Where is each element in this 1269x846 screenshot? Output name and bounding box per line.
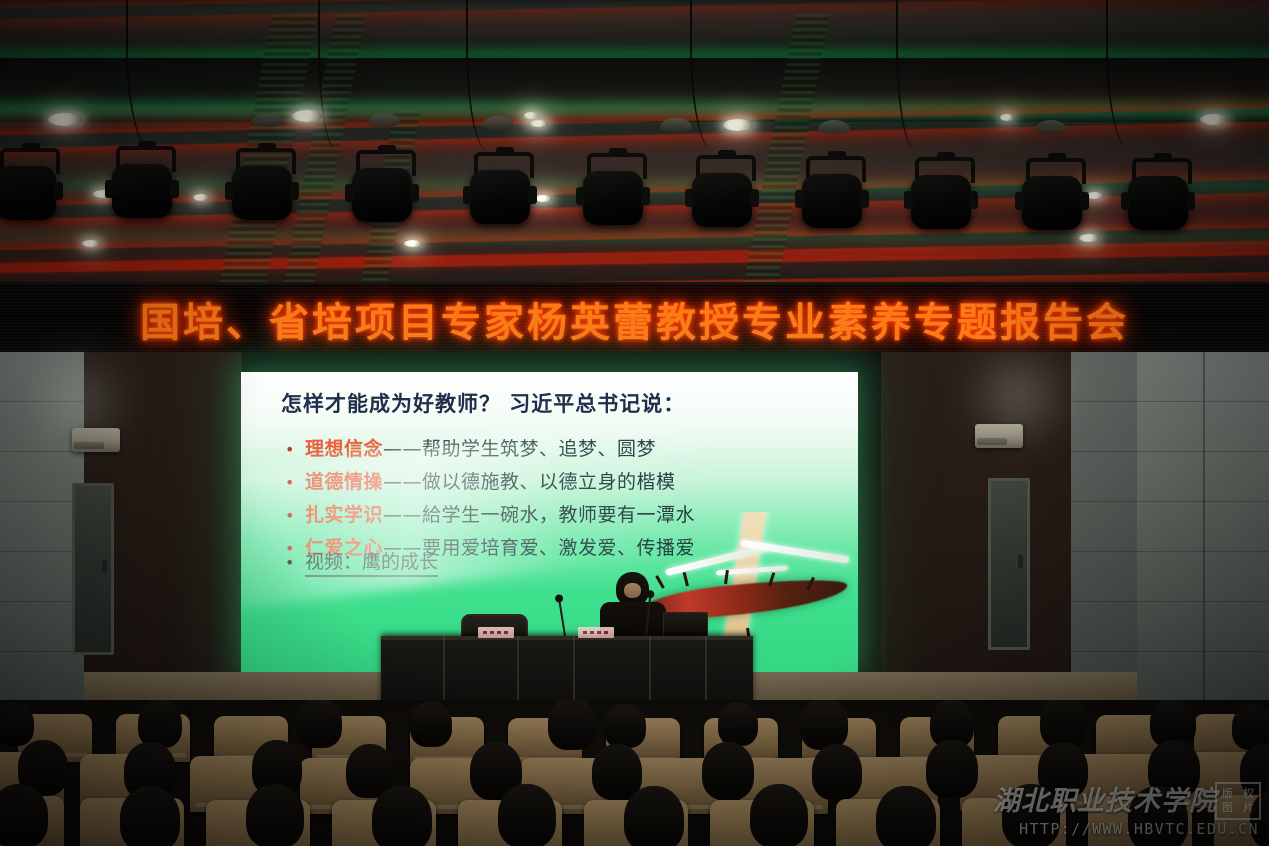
audience-head [296, 700, 342, 748]
badge-char: 权 [1238, 787, 1259, 801]
projection-screen: 怎样才能成为好教师？ 习近平总书记说： • 理想信念 —— 帮助学生筑梦、追梦、… [241, 372, 858, 672]
watermark-copyright-badge: 版 权 图 片 [1215, 782, 1261, 820]
bullet-value: 做以德施教、以德立身的楷模 [422, 467, 676, 494]
bullet-dot-icon: • [285, 442, 305, 458]
audience-head [800, 700, 848, 750]
audience-head [812, 744, 862, 800]
ceiling-dome-fixture [252, 113, 284, 127]
hanging-cable [1106, 0, 1140, 150]
art-thorn-spike [724, 570, 729, 584]
audience-head [498, 784, 556, 846]
ceiling-spot-light [723, 119, 753, 131]
name-plate-left [478, 627, 514, 638]
ceiling-spot-light [524, 112, 538, 119]
ceiling-dome-fixture [482, 116, 514, 130]
exit-door-left[interactable] [72, 483, 114, 655]
exit-door-right[interactable] [988, 478, 1030, 650]
audience-head [702, 742, 754, 800]
ceiling-spot-light [1200, 114, 1228, 125]
led-banner: 国培、省培项目专家杨英蕾教授专业素养专题报告会 [0, 282, 1269, 356]
door-handle[interactable] [1018, 555, 1023, 568]
bullet-dot-icon: • [285, 475, 305, 491]
audience-head [624, 786, 684, 846]
audience-head [410, 701, 452, 747]
bullet-key: 理想信念 [305, 434, 383, 461]
slide-bullet-item: • 道德情操 —— 做以德施教、以德立身的楷模 [285, 467, 695, 494]
hanging-cable [126, 0, 162, 150]
ceiling-spot-light [82, 240, 100, 247]
slide-video-item: • 视频：鹰的成长 [285, 547, 438, 577]
slide-video-label: 视频：鹰的成长 [305, 547, 438, 577]
wall-panel-lines [1071, 352, 1137, 724]
ceiling-region [0, 0, 1269, 282]
bullet-dash: —— [383, 471, 422, 493]
ceiling-spot-light [1079, 234, 1099, 242]
audience-head [120, 786, 180, 846]
ceiling-spot-light [193, 194, 209, 201]
side-wall-right [1137, 352, 1269, 724]
table-top-edge [381, 636, 753, 640]
badge-char: 版 [1217, 787, 1238, 801]
audience-head [926, 740, 978, 798]
badge-char: 片 [1238, 801, 1259, 815]
audience-head [0, 702, 34, 746]
wall-seam [1203, 352, 1205, 724]
name-plate-right [578, 627, 614, 638]
led-banner-text: 国培、省培项目专家杨英蕾教授专业素养专题报告会 [140, 290, 1129, 348]
auditorium-photo: 国培、省培项目专家杨英蕾教授专业素养专题报告会 怎样才能成为好教师？ 习近平总书… [0, 0, 1269, 846]
audience-head [548, 700, 596, 750]
audience-head [138, 700, 182, 748]
bullet-dash: —— [383, 504, 422, 526]
ceiling-dome-fixture [368, 113, 400, 127]
door-handle[interactable] [102, 560, 107, 573]
audience-head [876, 786, 936, 846]
side-wall-right-inner [1071, 352, 1137, 724]
art-thorn-spike [683, 572, 689, 586]
audience-head [718, 702, 758, 746]
bullet-key: 道德情操 [305, 467, 383, 494]
ceiling-spot-light [1000, 114, 1014, 121]
slide-title: 怎样才能成为好教师？ 习近平总书记说： [281, 388, 685, 418]
bullet-value: 帮助学生筑梦、追梦、圆梦 [422, 434, 656, 461]
audience-head [604, 704, 646, 748]
ceiling-spot-light [404, 240, 422, 247]
audience-head [750, 784, 808, 846]
bullet-dash: —— [383, 438, 422, 460]
laptop-device [663, 612, 708, 638]
ceiling-spot-light [530, 120, 548, 127]
badge-char: 图 [1217, 801, 1238, 815]
bullet-key: 扎实学识 [305, 500, 383, 527]
audience-head [1040, 700, 1086, 748]
ceiling-spot-light [292, 110, 322, 122]
bullet-dot-icon: • [285, 555, 305, 571]
audience-head [0, 784, 48, 846]
slide-bullet-item: • 理想信念 —— 帮助学生筑梦、追梦、圆梦 [285, 434, 695, 461]
ceiling-dome-fixture [660, 118, 692, 132]
watermark: 湖北职业技术学院 版 权 图 片 HTTP://WWW.HBVTC.EDU.CN [1005, 784, 1263, 840]
speaker-face [624, 583, 641, 598]
watermark-institution: 湖北职业技术学院 [993, 779, 1217, 818]
ceiling-dome-fixture [818, 120, 850, 134]
watermark-url: HTTP://WWW.HBVTC.EDU.CN [1019, 820, 1259, 838]
audience-head [246, 784, 304, 846]
ceiling-dome-fixture [1035, 120, 1067, 134]
bullet-dot-icon: • [285, 508, 305, 524]
ceiling-spot-light [48, 113, 82, 126]
air-conditioner-unit-left [72, 428, 120, 452]
audience-head [372, 786, 432, 846]
air-conditioner-unit-right [975, 424, 1023, 448]
